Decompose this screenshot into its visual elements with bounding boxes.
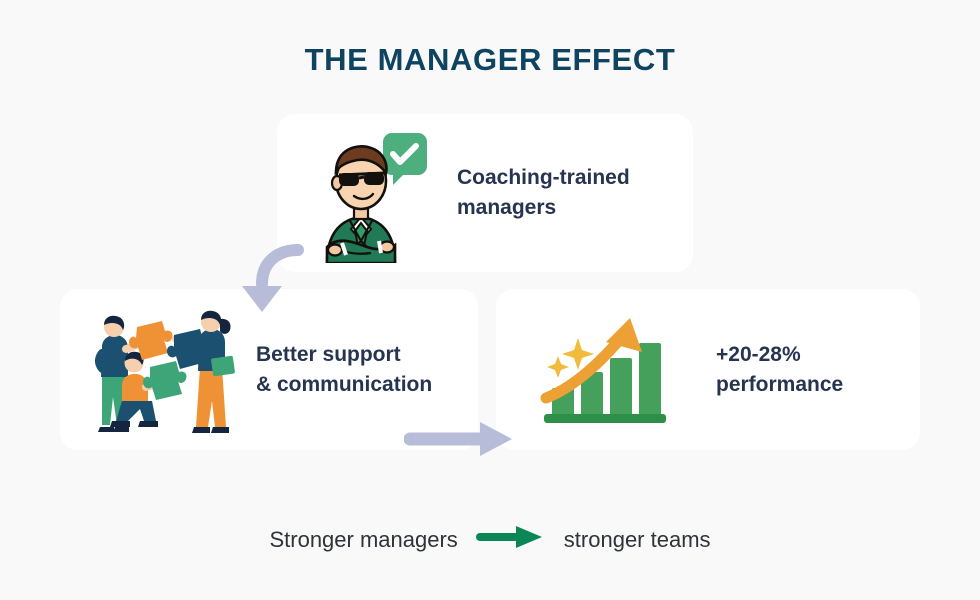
team-puzzle-illustration — [82, 305, 242, 435]
card-label-line: Better support — [256, 340, 432, 370]
card-label-coaching-trained-managers: Coaching-trained managers — [457, 163, 630, 223]
card-label-line: managers — [457, 193, 630, 223]
card-label-better-support-communication: Better support & communication — [256, 340, 432, 400]
card-performance-gain: +20-28% performance — [496, 289, 920, 450]
connector-top-to-middle — [214, 234, 306, 316]
tagline-right-text: stronger teams — [564, 527, 711, 553]
tagline-left-text: Stronger managers — [269, 527, 457, 553]
card-coaching-trained-managers: Coaching-trained managers — [277, 114, 693, 272]
card-label-line: +20-28% — [716, 340, 843, 370]
connector-middle-to-right — [404, 417, 524, 461]
card-label-performance-gain: +20-28% performance — [716, 340, 843, 400]
manager-with-checkmark-illustration — [309, 123, 429, 263]
growth-bar-chart-icon — [534, 310, 674, 430]
card-label-line: performance — [716, 370, 843, 400]
card-label-line: & communication — [256, 370, 432, 400]
card-label-line: Coaching-trained — [457, 163, 630, 193]
page-title: THE MANAGER EFFECT — [0, 42, 980, 78]
infographic-canvas: THE MANAGER EFFECT — [0, 0, 980, 600]
curved-down-arrow-icon — [214, 234, 306, 316]
tagline: Stronger managers stronger teams — [0, 524, 980, 555]
tagline-right-arrow-icon — [476, 524, 546, 555]
right-arrow-icon — [404, 417, 524, 461]
